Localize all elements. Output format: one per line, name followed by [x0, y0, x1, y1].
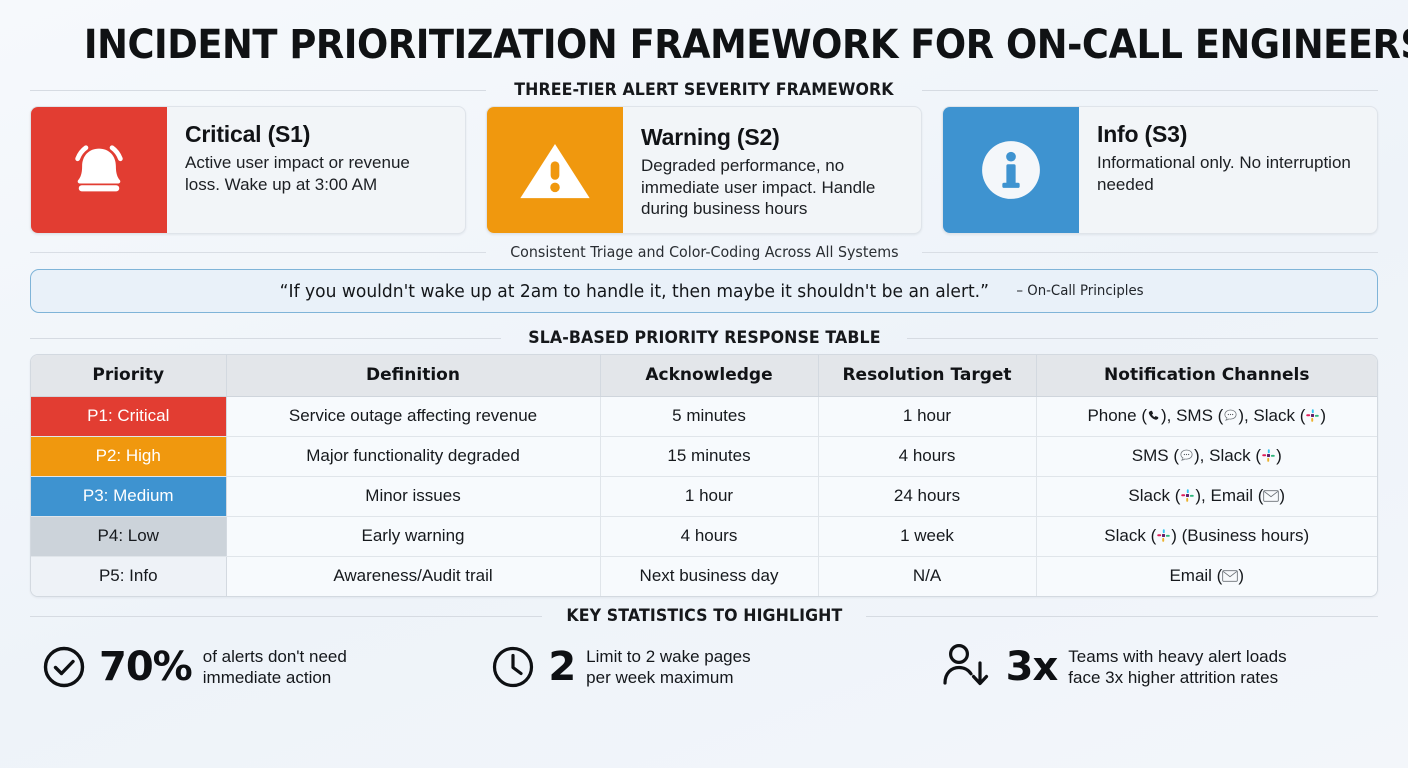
stat-number-wakepages: 2 — [548, 647, 575, 687]
stat-line2-wakepages: per week maximum — [586, 668, 733, 687]
slack-icon — [1156, 528, 1171, 543]
cell-channels: Phone (), SMS (), Slack () — [1036, 396, 1377, 436]
cell-resolution: 24 hours — [818, 476, 1036, 516]
stat-item-attrition: 3x Teams with heavy alert loads face 3x … — [929, 642, 1378, 692]
cell-acknowledge: 1 hour — [600, 476, 818, 516]
quote-banner: “If you wouldn't wake up at 2am to handl… — [30, 269, 1378, 313]
column-header-definition: Definition — [226, 355, 600, 396]
severity-desc-critical: Active user impact or revenue loss. Wake… — [185, 152, 449, 196]
check-circle-icon — [40, 643, 88, 691]
cell-resolution: 1 week — [818, 516, 1036, 556]
severity-card-body-info: Info (S3) Informational only. No interru… — [1079, 107, 1377, 233]
table-row[interactable]: P2: HighMajor functionality degraded15 m… — [31, 436, 1377, 476]
table-body: P1: CriticalService outage affecting rev… — [31, 396, 1377, 596]
cell-resolution: 4 hours — [818, 436, 1036, 476]
cell-definition: Early warning — [226, 516, 600, 556]
stat-line1-alerts: of alerts don't need — [203, 647, 347, 666]
caption-row: Consistent Triage and Color-Coding Acros… — [30, 243, 1378, 261]
cell-priority: P4: Low — [31, 516, 226, 556]
severity-swatch-critical — [31, 107, 167, 233]
stat-number-alerts: 70% — [99, 647, 192, 687]
section-title-table: SLA-BASED PRIORITY RESPONSE TABLE — [528, 328, 880, 348]
speech-balloon-icon — [1223, 408, 1238, 423]
divider-left-table — [30, 338, 501, 339]
stat-text-wakepages: Limit to 2 wake pages per week maximum — [586, 646, 750, 689]
table-row[interactable]: P4: LowEarly warning4 hours1 weekSlack (… — [31, 516, 1377, 556]
key-statistics: 70% of alerts don't need immediate actio… — [30, 642, 1378, 692]
section-title-stats: KEY STATISTICS TO HIGHLIGHT — [566, 606, 842, 626]
quote-text: “If you wouldn't wake up at 2am to handl… — [280, 281, 989, 302]
cell-definition: Minor issues — [226, 476, 600, 516]
section-header-severity: THREE-TIER ALERT SEVERITY FRAMEWORK — [30, 80, 1378, 100]
cell-priority: P3: Medium — [31, 476, 226, 516]
cell-acknowledge: 15 minutes — [600, 436, 818, 476]
alarm-bell-icon — [63, 134, 135, 206]
severity-card-body-warning: Warning (S2) Degraded performance, no im… — [623, 107, 921, 233]
page-title: INCIDENT PRIORITIZATION FRAMEWORK FOR ON… — [84, 10, 1324, 71]
priority-table-wrapper: Priority Definition Acknowledge Resoluti… — [30, 354, 1378, 597]
divider-right — [922, 90, 1378, 91]
table-row[interactable]: P1: CriticalService outage affecting rev… — [31, 396, 1377, 436]
info-circle-icon — [974, 133, 1048, 207]
slack-icon — [1180, 488, 1195, 503]
quote-attribution: – On-Call Principles — [1016, 283, 1143, 299]
cell-priority: P2: High — [31, 436, 226, 476]
cell-acknowledge: 4 hours — [600, 516, 818, 556]
stat-line2-attrition: face 3x higher attrition rates — [1068, 668, 1278, 687]
severity-card-warning: Warning (S2) Degraded performance, no im… — [486, 106, 922, 234]
severity-desc-info: Informational only. No interruption need… — [1097, 152, 1361, 196]
severity-swatch-info — [943, 107, 1079, 233]
cell-resolution: 1 hour — [818, 396, 1036, 436]
clock-icon — [489, 643, 537, 691]
severity-cards: Critical (S1) Active user impact or reve… — [30, 106, 1378, 234]
envelope-icon — [1222, 570, 1238, 582]
stat-number-attrition: 3x — [1006, 647, 1058, 687]
table-head: Priority Definition Acknowledge Resoluti… — [31, 355, 1377, 396]
slack-icon — [1261, 448, 1276, 463]
stat-line1-attrition: Teams with heavy alert loads — [1068, 647, 1286, 666]
table-header-row: Priority Definition Acknowledge Resoluti… — [31, 355, 1377, 396]
stat-line2-alerts: immediate action — [203, 668, 332, 687]
cell-channels: SMS (), Slack () — [1036, 436, 1377, 476]
severity-card-critical: Critical (S1) Active user impact or reve… — [30, 106, 466, 234]
column-header-priority: Priority — [31, 355, 226, 396]
stat-item-wakepages: 2 Limit to 2 wake pages per week maximum — [479, 643, 928, 691]
speech-balloon-icon — [1179, 448, 1194, 463]
divider-left — [30, 90, 486, 91]
cell-channels: Email () — [1036, 556, 1377, 596]
table-row[interactable]: P3: MediumMinor issues1 hour24 hoursSlac… — [31, 476, 1377, 516]
stat-line1-wakepages: Limit to 2 wake pages — [586, 647, 750, 666]
severity-card-info: Info (S3) Informational only. No interru… — [942, 106, 1378, 234]
column-header-acknowledge: Acknowledge — [600, 355, 818, 396]
cell-definition: Service outage affecting revenue — [226, 396, 600, 436]
severity-title-info: Info (S3) — [1097, 121, 1361, 148]
severity-card-body-critical: Critical (S1) Active user impact or reve… — [167, 107, 465, 233]
cell-acknowledge: Next business day — [600, 556, 818, 596]
caption-divider-left — [30, 252, 486, 253]
slack-icon — [1305, 408, 1320, 423]
cell-priority: P1: Critical — [31, 396, 226, 436]
section-header-stats: KEY STATISTICS TO HIGHLIGHT — [30, 606, 1378, 626]
table-row[interactable]: P5: InfoAwareness/Audit trailNext busine… — [31, 556, 1377, 596]
section-title-severity: THREE-TIER ALERT SEVERITY FRAMEWORK — [514, 80, 893, 100]
column-header-resolution: Resolution Target — [818, 355, 1036, 396]
priority-table: Priority Definition Acknowledge Resoluti… — [31, 355, 1377, 596]
severity-title-warning: Warning (S2) — [641, 124, 905, 151]
cell-channels: Slack (), Email () — [1036, 476, 1377, 516]
section-header-table: SLA-BASED PRIORITY RESPONSE TABLE — [30, 328, 1378, 348]
divider-right-table — [907, 338, 1378, 339]
cell-channels: Slack () (Business hours) — [1036, 516, 1377, 556]
cell-resolution: N/A — [818, 556, 1036, 596]
cell-definition: Awareness/Audit trail — [226, 556, 600, 596]
caption-divider-right — [922, 252, 1378, 253]
divider-left-stats — [30, 616, 542, 617]
person-attrition-icon — [939, 642, 995, 692]
cell-definition: Major functionality degraded — [226, 436, 600, 476]
stat-item-alerts: 70% of alerts don't need immediate actio… — [30, 643, 479, 691]
consistency-caption: Consistent Triage and Color-Coding Acros… — [510, 243, 898, 261]
phone-icon — [1147, 409, 1161, 423]
cell-priority: P5: Info — [31, 556, 226, 596]
envelope-icon — [1263, 490, 1279, 502]
severity-swatch-warning — [487, 107, 623, 233]
column-header-channels: Notification Channels — [1036, 355, 1377, 396]
severity-title-critical: Critical (S1) — [185, 121, 449, 148]
cell-acknowledge: 5 minutes — [600, 396, 818, 436]
warning-triangle-icon — [516, 134, 594, 206]
stat-text-attrition: Teams with heavy alert loads face 3x hig… — [1068, 646, 1286, 689]
infographic-page: INCIDENT PRIORITIZATION FRAMEWORK FOR ON… — [0, 0, 1408, 768]
divider-right-stats — [866, 616, 1378, 617]
severity-desc-warning: Degraded performance, no immediate user … — [641, 155, 905, 220]
stat-text-alerts: of alerts don't need immediate action — [203, 646, 347, 689]
